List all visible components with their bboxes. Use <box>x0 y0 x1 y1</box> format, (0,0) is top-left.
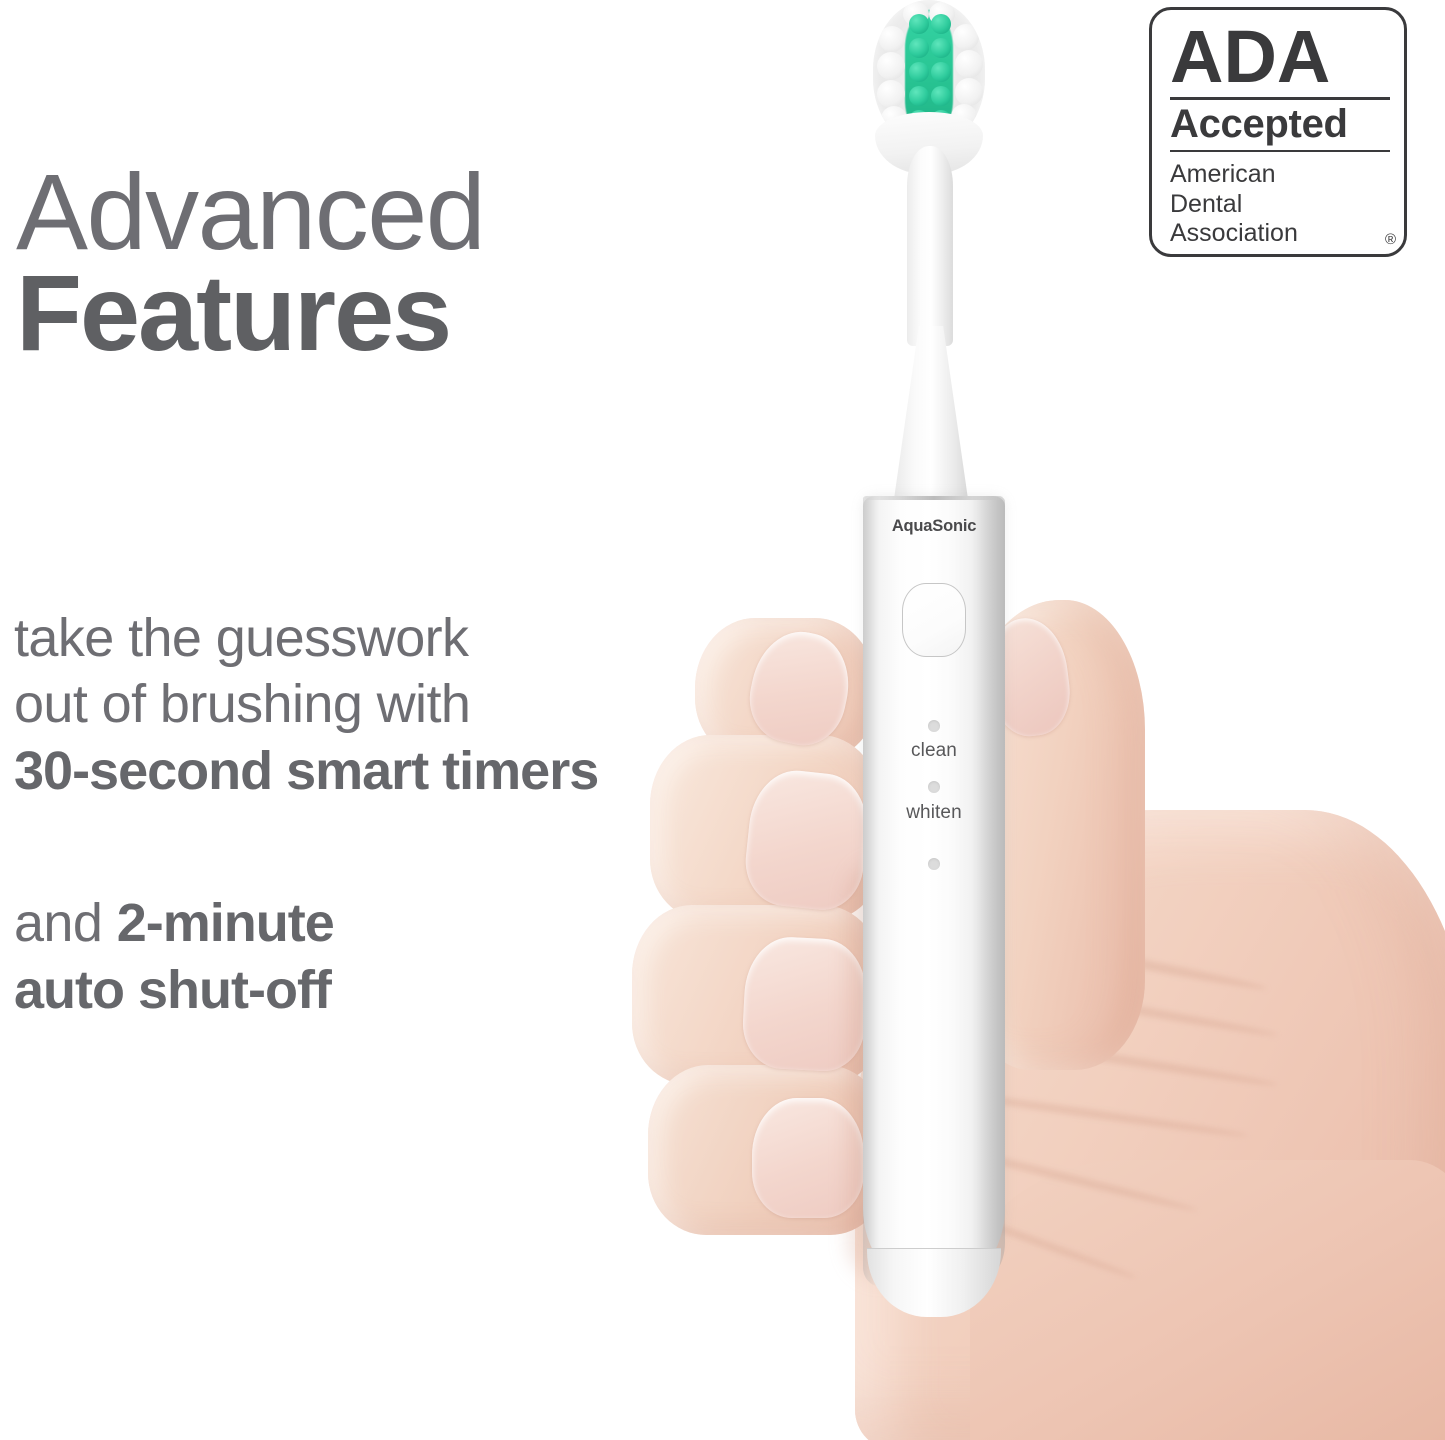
bristle-green <box>909 86 929 106</box>
ada-organization-name: American Dental Association <box>1170 160 1390 249</box>
brush-neck-taper <box>893 326 969 506</box>
ada-accepted-badge: ADA Accepted American Dental Association… <box>1149 7 1407 257</box>
ada-accepted-label: Accepted <box>1170 104 1390 144</box>
bristle-green <box>909 62 929 82</box>
bristle-green <box>931 38 951 58</box>
handle-shading-left <box>863 496 879 1286</box>
bristle <box>879 26 905 52</box>
ada-org-line-2: Dental <box>1170 190 1390 220</box>
bristle-green <box>909 38 929 58</box>
bristle <box>955 78 983 106</box>
electric-toothbrush: AquaSonic clean whiten <box>845 0 1035 1326</box>
ada-org-line-3: Association <box>1170 219 1390 249</box>
copy-line-4-highlight: 2-minute <box>117 893 334 953</box>
registered-trademark-icon: ® <box>1385 231 1396 248</box>
bristle <box>877 80 905 108</box>
brand-logo-text: AquaSonic <box>867 517 1001 536</box>
copy-line-1: take the guesswork <box>14 605 598 671</box>
copy-line-4-prefix: and <box>14 893 117 953</box>
led-indicator-clean <box>928 720 940 732</box>
palm-lower <box>970 1160 1445 1440</box>
bristle <box>955 50 983 78</box>
bristle-green <box>931 86 951 106</box>
bristle-green <box>931 14 951 34</box>
handle-base-cap <box>867 1248 1001 1317</box>
feature-description: take the guesswork out of brushing with … <box>14 605 598 1023</box>
ada-divider-bottom <box>1170 150 1390 152</box>
ada-org-line-1: American <box>1170 160 1390 190</box>
ada-badge-content: ADA Accepted American Dental Association <box>1170 20 1390 246</box>
hand-holding-product <box>640 560 1445 1440</box>
headline-line-advanced: Advanced <box>16 160 484 265</box>
feature-shutoff-text: and 2-minute auto shut-off <box>14 890 598 1023</box>
bristle <box>877 52 905 80</box>
copy-line-3-highlight: 30-second smart timers <box>14 738 598 804</box>
power-button[interactable] <box>902 583 966 657</box>
handle-seam <box>865 496 1003 500</box>
mode-label-whiten[interactable]: whiten <box>855 802 1013 824</box>
feature-timer-text: take the guesswork out of brushing with … <box>14 605 598 804</box>
handle-shading-right <box>971 496 1005 1286</box>
copy-line-5-highlight: auto shut-off <box>14 957 598 1023</box>
brush-neck <box>907 146 953 346</box>
bristle-green <box>931 62 951 82</box>
ada-title: ADA <box>1170 22 1390 92</box>
led-indicator-whiten <box>928 781 940 793</box>
bristle-green <box>909 14 929 34</box>
headline-line-features: Features <box>16 261 484 366</box>
copy-line-2: out of brushing with <box>14 671 598 737</box>
bristle <box>953 24 979 50</box>
led-indicator-third <box>928 858 940 870</box>
copy-line-4: and 2-minute <box>14 890 598 956</box>
page-title: Advanced Features <box>16 160 484 366</box>
product-feature-image: Advanced Features take the guesswork out… <box>0 0 1445 1440</box>
mode-label-clean[interactable]: clean <box>855 740 1013 762</box>
